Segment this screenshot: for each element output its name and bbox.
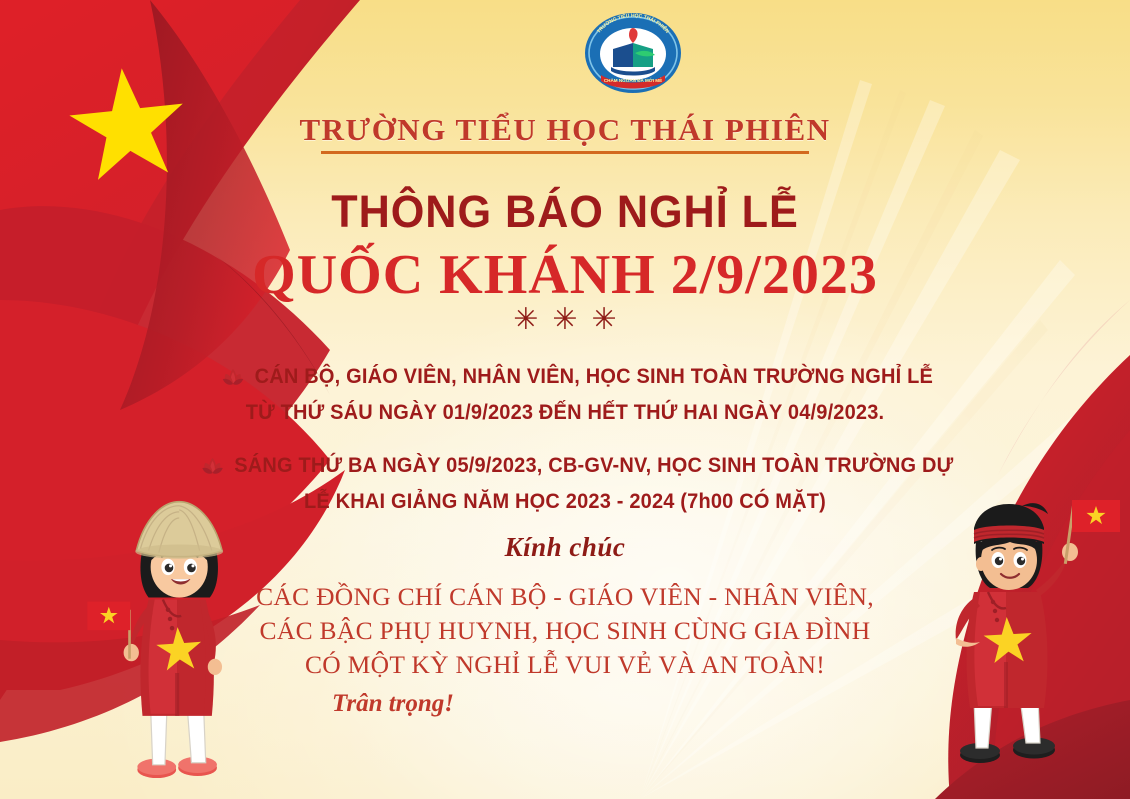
- notice-block-2: SÁNG THỨ BA NGÀY 05/9/2023, CB-GV-NV, HỌ…: [0, 447, 1130, 519]
- asterisk-divider: ✳✳✳: [0, 302, 1130, 337]
- wish-line-2: CÁC BẬC PHỤ HUYNH, HỌC SINH CÙNG GIA ĐÌN…: [0, 614, 1130, 648]
- school-logo: TRƯỜNG TIỂU HỌC THÁI PHIÊN CHĂM NGOAN ĐA…: [577, 9, 689, 95]
- headline-secondary: QUỐC KHÁNH 2/9/2023: [0, 243, 1130, 307]
- wish-line-1: CÁC ĐỒNG CHÍ CÁN BỘ - GIÁO VIÊN - NHÂN V…: [0, 580, 1130, 614]
- school-name: TRƯỜNG TIỂU HỌC THÁI PHIÊN: [0, 112, 1130, 154]
- holiday-announcement-poster: TRƯỜNG TIỂU HỌC THÁI PHIÊN CHĂM NGOAN ĐA…: [0, 0, 1130, 799]
- notice-1-line-1: CÁN BỘ, GIÁO VIÊN, NHÂN VIÊN, HỌC SINH T…: [255, 364, 933, 388]
- lotus-icon: [201, 456, 225, 476]
- notice-1-line-1-row: CÁN BỘ, GIÁO VIÊN, NHÂN VIÊN, HỌC SINH T…: [40, 358, 1091, 394]
- regards-text: Trân trọng!: [332, 690, 454, 718]
- wish-line-3: CÓ MỘT KỲ NGHỈ LỄ VUI VẺ VÀ AN TOÀN!: [0, 648, 1130, 682]
- notice-block-1: CÁN BỘ, GIÁO VIÊN, NHÂN VIÊN, HỌC SINH T…: [0, 358, 1130, 430]
- notice-1-line-2: TỪ THỨ SÁU NGÀY 01/9/2023 ĐẾN HẾT THỨ HA…: [40, 394, 1091, 430]
- wish-text: CÁC ĐỒNG CHÍ CÁN BỘ - GIÁO VIÊN - NHÂN V…: [0, 580, 1130, 682]
- notice-2-line-1: SÁNG THỨ BA NGÀY 05/9/2023, CB-GV-NV, HỌ…: [234, 453, 953, 477]
- headline-primary: THÔNG BÁO NGHỈ LỄ: [23, 186, 1108, 238]
- logo-banner-text: CHĂM NGOAN ĐA MỚI MẺ: [604, 76, 662, 83]
- notice-2-line-1-row: SÁNG THỨ BA NGÀY 05/9/2023, CB-GV-NV, HỌ…: [40, 447, 1091, 483]
- notice-2-line-2: LỄ KHAI GIẢNG NĂM HỌC 2023 - 2024 (7h00 …: [40, 483, 1091, 519]
- greeting-text: Kính chúc: [0, 532, 1130, 563]
- school-name-text: TRƯỜNG TIỂU HỌC THÁI PHIÊN: [299, 112, 830, 154]
- bottom-right-red-curve: [935, 700, 1130, 799]
- lotus-icon: [221, 367, 245, 387]
